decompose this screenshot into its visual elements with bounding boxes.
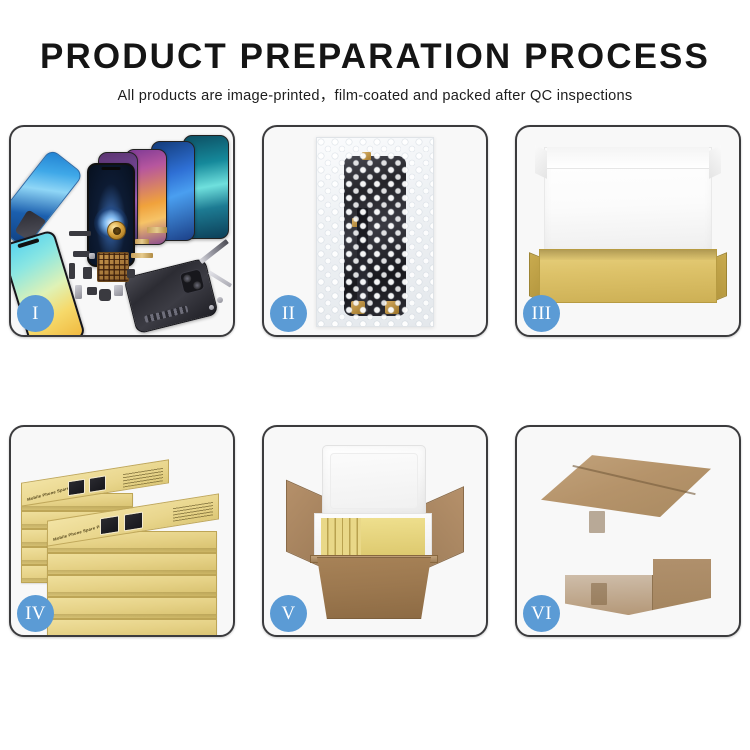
stacked-box xyxy=(47,575,217,597)
step-badge-4: IV xyxy=(17,595,54,632)
page-title: PRODUCT PREPARATION PROCESS xyxy=(0,38,750,75)
speaker-part xyxy=(99,289,111,301)
camera-module-icon xyxy=(179,268,206,295)
lid-fold-crease xyxy=(547,147,709,169)
carton-front-face xyxy=(312,557,436,619)
small-part xyxy=(73,251,90,257)
bubble-texture xyxy=(317,138,433,326)
process-step-6: VI xyxy=(515,425,741,637)
flex-ribbon-part xyxy=(131,253,153,258)
step-badge-1: I xyxy=(17,295,54,332)
box-inner-shadow xyxy=(540,250,716,260)
chip-grid-icon xyxy=(97,252,129,282)
step-badge-5: V xyxy=(270,595,307,632)
box-spec-text-lines xyxy=(123,466,163,487)
process-step-4: Mobile Phone Spare Parts Mobile Phone Sp… xyxy=(9,425,235,637)
process-step-1: I xyxy=(9,125,235,337)
stacked-box xyxy=(47,597,217,619)
carton-front-face xyxy=(565,575,653,615)
phone-back-housing-icon xyxy=(123,258,219,335)
small-part xyxy=(69,231,91,236)
styrofoam-lid-recess xyxy=(330,453,418,509)
screw-part xyxy=(89,253,95,259)
small-part xyxy=(127,269,135,278)
small-part xyxy=(83,267,92,279)
box-spec-text-lines xyxy=(173,500,213,521)
styrofoam-lid xyxy=(322,445,426,517)
boxes-horizontal-row xyxy=(361,518,425,556)
screw-part xyxy=(217,297,223,303)
step-badge-6: VI xyxy=(523,595,560,632)
metal-bracket-part xyxy=(75,285,82,299)
box-window-phone-image xyxy=(100,515,119,535)
small-part xyxy=(87,287,97,295)
box-window-phone-image xyxy=(124,512,143,532)
step-badge-2: II xyxy=(270,295,307,332)
phone-notch xyxy=(17,238,39,248)
phone-notch xyxy=(102,167,121,170)
step-badge-3: III xyxy=(523,295,560,332)
screwdriver-icon xyxy=(199,239,229,264)
process-step-2: II xyxy=(262,125,488,337)
process-step-5: V xyxy=(262,425,488,637)
box-window-phone-image xyxy=(68,479,85,497)
carton-tape-patch xyxy=(589,511,605,533)
small-part xyxy=(69,263,75,279)
page-header: PRODUCT PREPARATION PROCESS All products… xyxy=(0,0,750,105)
box-window-phone-image xyxy=(89,475,106,493)
bubble-wrap-bag xyxy=(316,137,434,327)
process-step-3: III xyxy=(515,125,741,337)
carton-right-face xyxy=(653,559,711,615)
metal-bracket-part xyxy=(114,285,123,296)
stacked-box xyxy=(47,619,217,637)
housing-contact-strip xyxy=(144,306,188,323)
boxes-vertical-row xyxy=(321,518,361,556)
packed-yellow-boxes xyxy=(321,518,425,556)
flex-ribbon-part xyxy=(135,239,149,244)
carton-tape-patch xyxy=(591,583,607,605)
stacked-box xyxy=(47,553,217,575)
flex-ribbon-part xyxy=(147,227,167,233)
process-step-grid: I II xyxy=(6,125,744,637)
gold-speaker-part-icon xyxy=(107,221,126,240)
page-subtitle: All products are image-printed，film-coat… xyxy=(0,84,750,105)
kraft-box-front xyxy=(539,249,717,303)
